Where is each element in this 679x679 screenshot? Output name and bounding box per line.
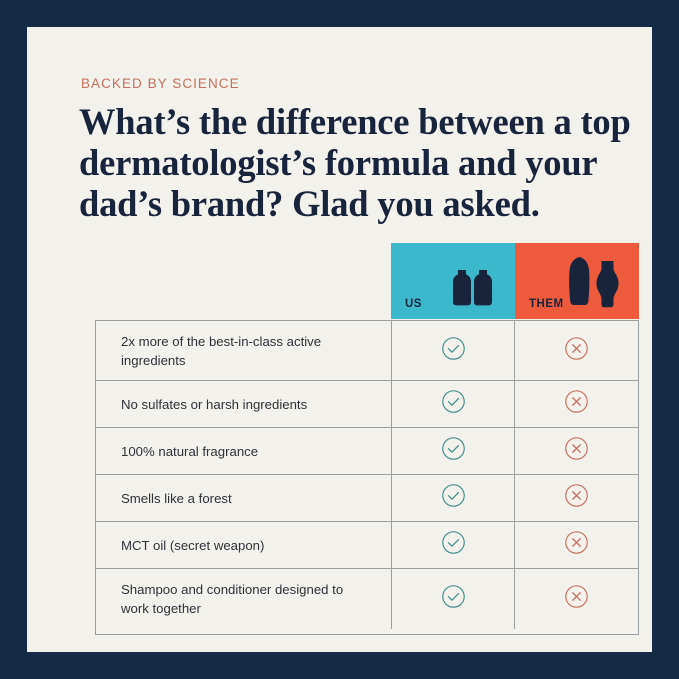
check-circle-icon <box>441 389 466 419</box>
us-cell <box>392 381 515 427</box>
us-cell <box>392 522 515 568</box>
cross-circle-icon <box>564 483 589 513</box>
them-cell <box>515 321 638 380</box>
us-cell <box>392 321 515 380</box>
them-cell <box>515 381 638 427</box>
us-cell <box>392 569 515 629</box>
comparison-card: BACKED BY SCIENCE What’s the difference … <box>27 27 652 652</box>
comparison-table: US THEM 2x more of the best-in-class act… <box>95 243 639 635</box>
them-cell <box>515 475 638 521</box>
column-header-them-label: THEM <box>529 298 564 310</box>
feature-label: Shampoo and conditioner designed to work… <box>96 569 392 629</box>
two-short-bottles-icon <box>447 259 503 315</box>
eyebrow-label: BACKED BY SCIENCE <box>81 76 240 91</box>
column-header-us: US <box>391 243 515 319</box>
column-header-us-label: US <box>405 298 422 310</box>
two-tall-bottles-icon <box>567 253 627 315</box>
cross-circle-icon <box>564 436 589 466</box>
them-cell <box>515 522 638 568</box>
table-body: 2x more of the best-in-class active ingr… <box>95 320 639 635</box>
check-circle-icon <box>441 584 466 614</box>
table-row: 2x more of the best-in-class active ingr… <box>96 321 638 381</box>
table-row: Shampoo and conditioner designed to work… <box>96 569 638 629</box>
them-cell <box>515 428 638 474</box>
feature-label: Smells like a forest <box>96 475 392 521</box>
cross-circle-icon <box>564 530 589 560</box>
check-circle-icon <box>441 483 466 513</box>
them-cell <box>515 569 638 629</box>
check-circle-icon <box>441 530 466 560</box>
us-cell <box>392 475 515 521</box>
table-row: No sulfates or harsh ingredients <box>96 381 638 428</box>
feature-label: 2x more of the best-in-class active ingr… <box>96 321 392 380</box>
cross-circle-icon <box>564 389 589 419</box>
page-title: What’s the difference between a top derm… <box>79 101 639 224</box>
check-circle-icon <box>441 336 466 366</box>
table-row: 100% natural fragrance <box>96 428 638 475</box>
table-header-row: US THEM <box>391 243 639 319</box>
feature-label: 100% natural fragrance <box>96 428 392 474</box>
check-circle-icon <box>441 436 466 466</box>
cross-circle-icon <box>564 336 589 366</box>
feature-label: MCT oil (secret weapon) <box>96 522 392 568</box>
table-row: MCT oil (secret weapon) <box>96 522 638 569</box>
feature-label: No sulfates or harsh ingredients <box>96 381 392 427</box>
column-header-them: THEM <box>515 243 639 319</box>
us-cell <box>392 428 515 474</box>
table-row: Smells like a forest <box>96 475 638 522</box>
cross-circle-icon <box>564 584 589 614</box>
